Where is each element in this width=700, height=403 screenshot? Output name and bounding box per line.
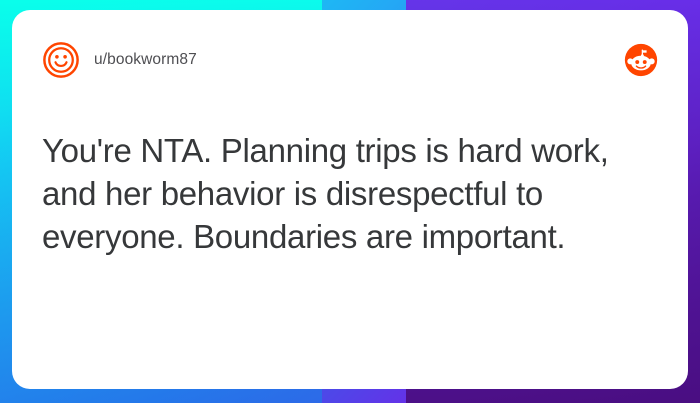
author-block[interactable]: u/bookworm87 — [42, 41, 197, 79]
comment-text: You're NTA. Planning trips is hard work,… — [42, 130, 658, 259]
screenshot-root: u/bookworm87 You're NTA. Plannin — [0, 0, 700, 403]
smiley-face-avatar-icon[interactable] — [42, 41, 80, 79]
reddit-comment-card: u/bookworm87 You're NTA. Plannin — [12, 10, 688, 389]
card-header: u/bookworm87 — [42, 38, 658, 82]
username-label: u/bookworm87 — [94, 51, 197, 69]
reddit-snoo-logo-icon[interactable] — [624, 43, 658, 77]
